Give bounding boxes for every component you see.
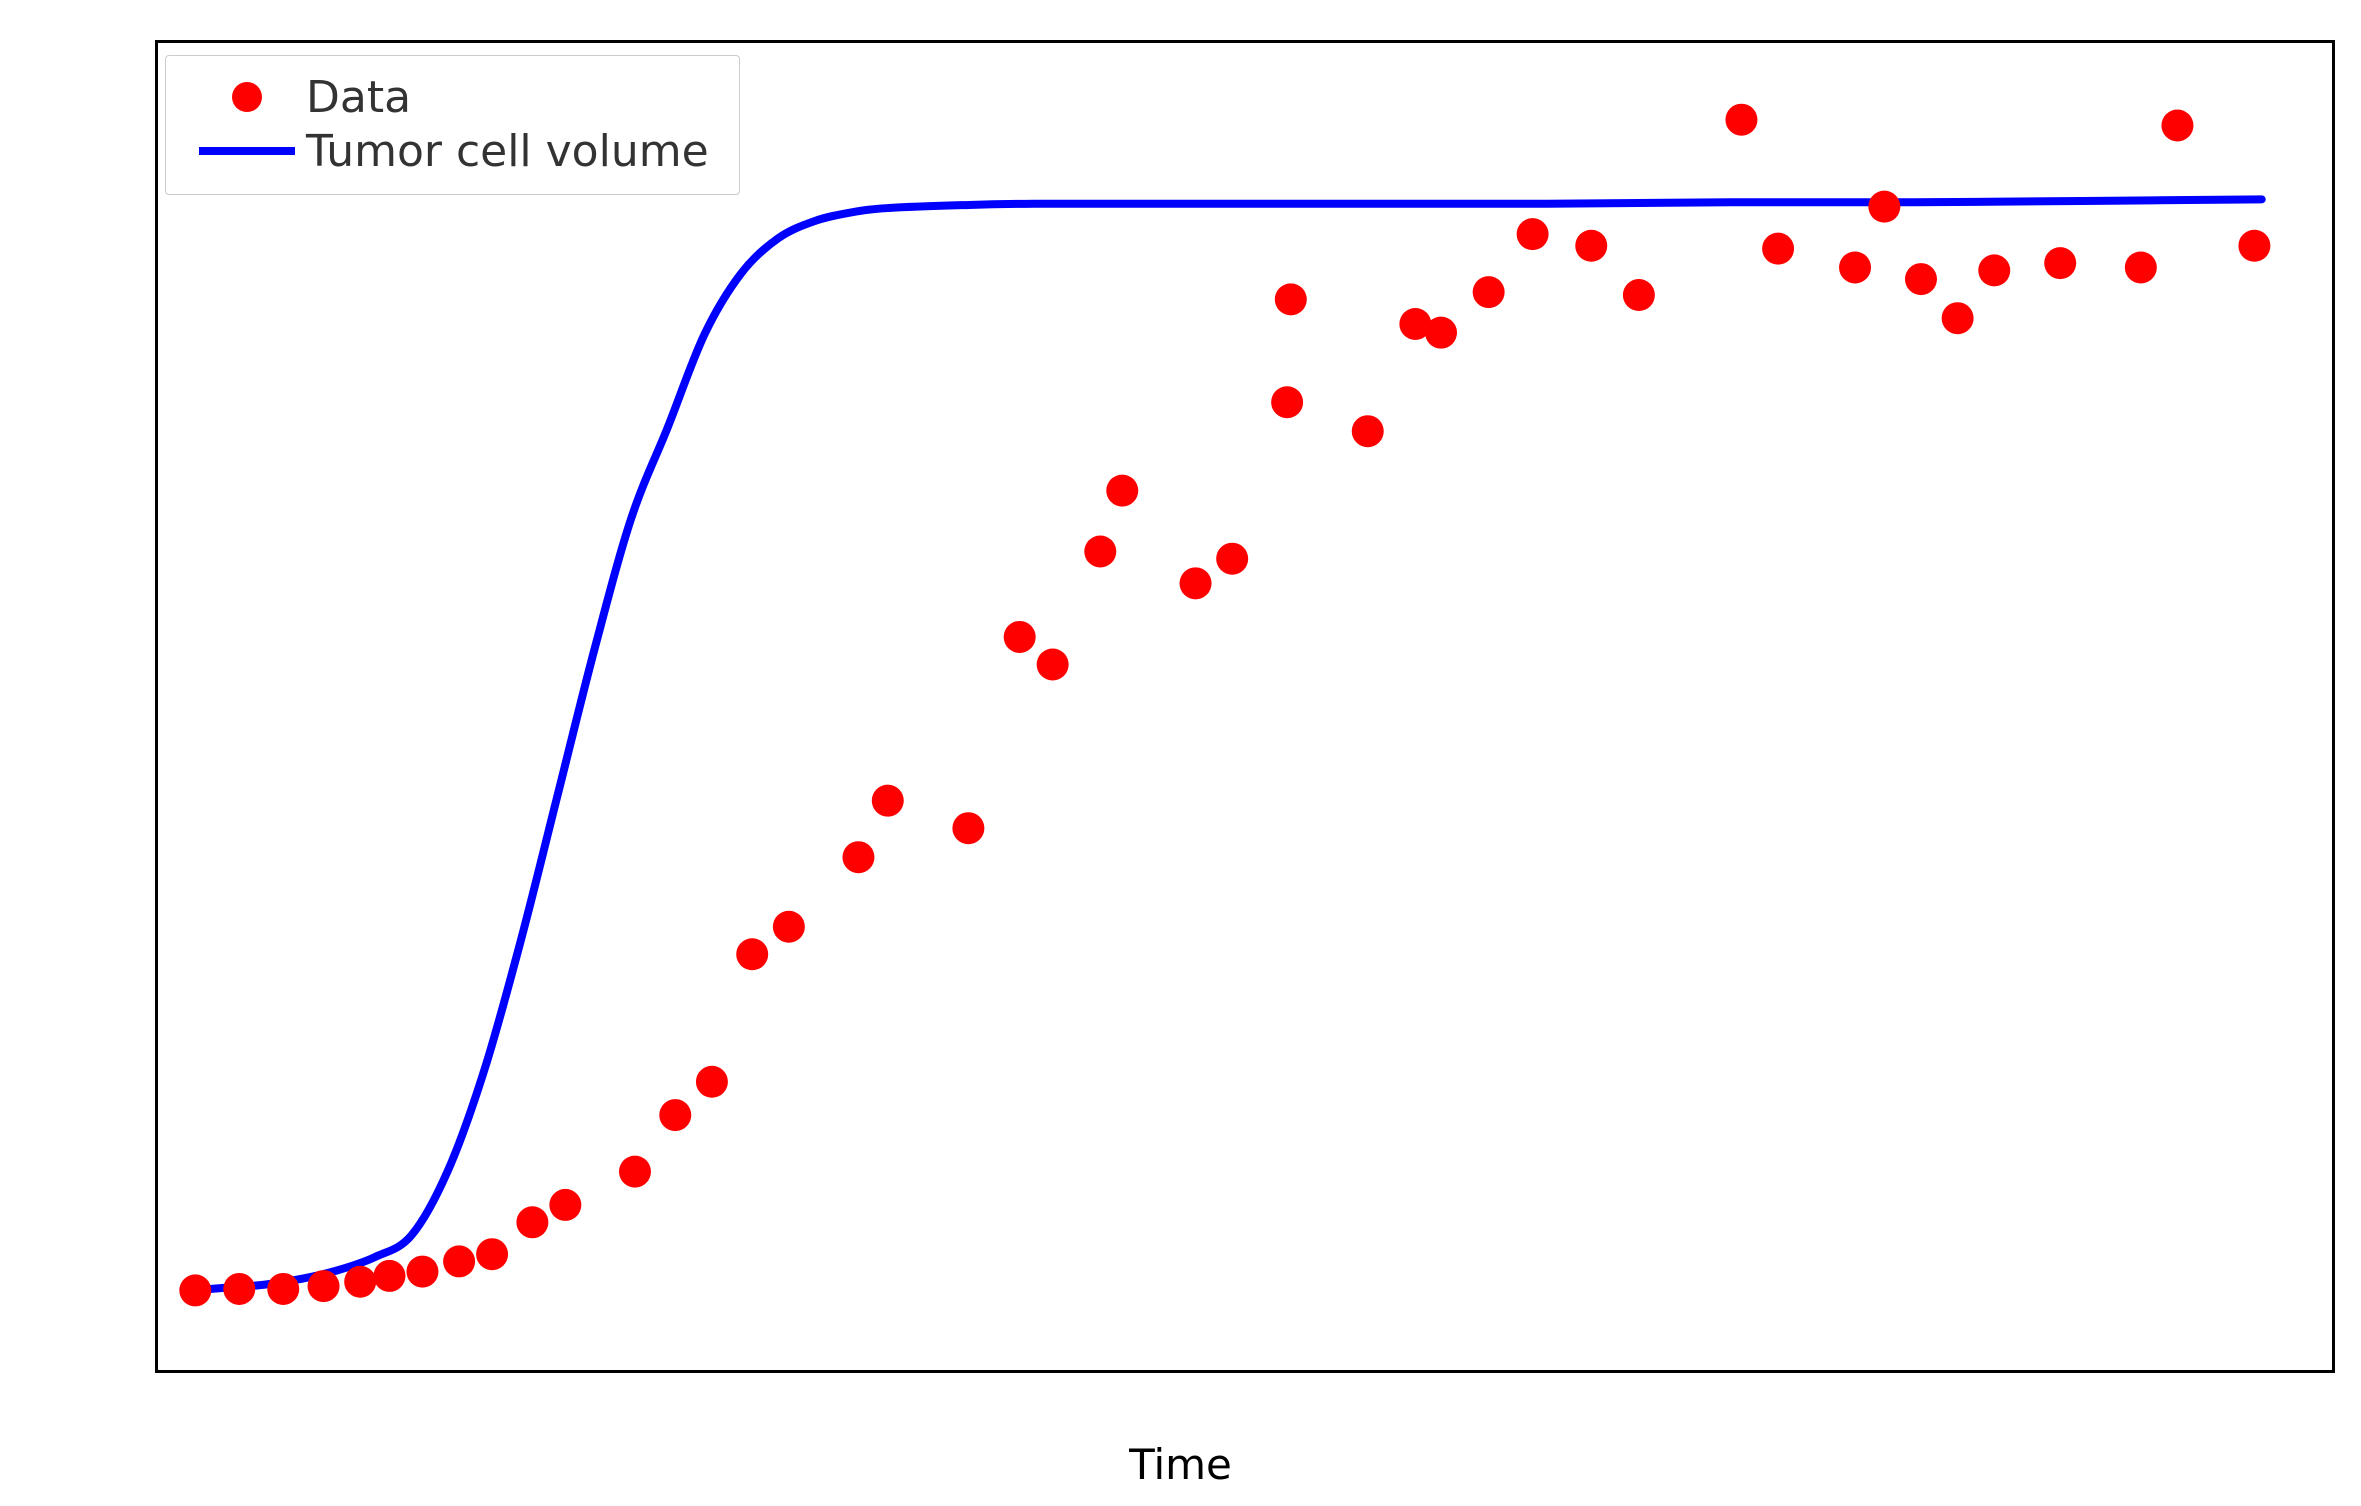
data-point <box>1425 317 1457 349</box>
data-point <box>696 1066 728 1098</box>
data-point <box>842 841 874 873</box>
data-point <box>308 1270 340 1302</box>
data-point <box>1575 230 1607 262</box>
data-point <box>267 1273 299 1305</box>
legend-marker-dot-icon <box>188 82 306 112</box>
data-point <box>872 785 904 817</box>
data-points <box>179 104 2270 1307</box>
data-point <box>1275 283 1307 315</box>
data-point <box>179 1274 211 1306</box>
legend-line-swatch-icon <box>188 147 306 155</box>
data-point <box>1106 475 1138 507</box>
legend-label-data: Data <box>306 72 411 123</box>
data-point <box>1725 104 1757 136</box>
data-point <box>223 1273 255 1305</box>
data-point <box>549 1189 581 1221</box>
legend-entry-data: Data <box>188 70 709 124</box>
data-point <box>1762 233 1794 265</box>
figure-canvas: 102030405060012345678 Data Tumor cell vo… <box>0 0 2361 1506</box>
data-point <box>773 911 805 943</box>
data-point <box>1037 648 1069 680</box>
legend-entry-model: Tumor cell volume <box>188 124 709 178</box>
data-point <box>1942 302 1974 334</box>
data-point <box>659 1099 691 1131</box>
data-point <box>1352 415 1384 447</box>
data-point <box>2238 230 2270 262</box>
data-point <box>476 1238 508 1270</box>
data-point <box>373 1260 405 1292</box>
data-point <box>736 938 768 970</box>
plot-svg: 102030405060012345678 <box>155 40 2335 1373</box>
x-axis-title: Time <box>0 1440 2361 1489</box>
data-point <box>516 1206 548 1238</box>
data-point <box>2125 251 2157 283</box>
data-point <box>1905 263 1937 295</box>
data-point <box>344 1266 376 1298</box>
legend-label-model: Tumor cell volume <box>306 126 709 177</box>
data-point <box>2161 109 2193 141</box>
data-point <box>1868 191 1900 223</box>
data-point <box>1004 621 1036 653</box>
data-point <box>952 812 984 844</box>
data-point <box>1216 543 1248 575</box>
data-point <box>1839 251 1871 283</box>
data-point <box>1271 386 1303 418</box>
legend: Data Tumor cell volume <box>165 55 740 195</box>
data-point <box>406 1256 438 1288</box>
data-point <box>1473 276 1505 308</box>
plot-area: 102030405060012345678 <box>155 40 2335 1373</box>
data-point <box>443 1245 475 1277</box>
data-point <box>1180 567 1212 599</box>
data-point <box>619 1156 651 1188</box>
model-curve <box>192 199 2262 1290</box>
data-point <box>1623 279 1655 311</box>
plot-frame <box>157 42 2334 1372</box>
data-point <box>2044 247 2076 279</box>
data-point <box>1978 254 2010 286</box>
data-point <box>1517 218 1549 250</box>
data-point <box>1084 535 1116 567</box>
